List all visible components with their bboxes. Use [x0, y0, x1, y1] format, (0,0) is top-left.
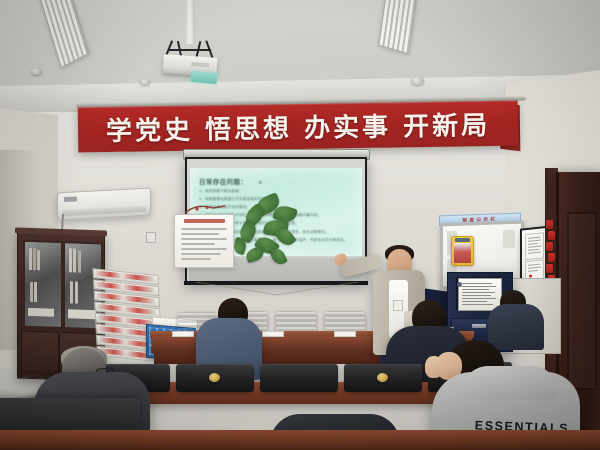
door-panel [567, 212, 597, 390]
slide-title: 日常存在问题： [199, 176, 355, 186]
audience-hand [425, 356, 443, 378]
audience-member [488, 304, 544, 350]
ceiling-light-icon [378, 0, 417, 54]
ceiling-light-icon [38, 0, 89, 68]
poster-logo-icon [183, 203, 227, 215]
slide-bullet: 1、相关制度不够全面准； [199, 189, 355, 194]
potted-plant [226, 196, 300, 272]
slogan-banner: 学党史 悟思想 办实事 开新局 [78, 101, 519, 153]
poster-image [454, 243, 471, 263]
bookcase-glass-door[interactable] [23, 240, 63, 329]
bench-seat[interactable] [260, 364, 338, 392]
seat-emblem [209, 373, 220, 382]
projector-mount-pole [186, 0, 195, 44]
paper-sheet [172, 331, 194, 337]
smoke-detector-icon [31, 68, 42, 75]
bookcase-door-split [58, 334, 60, 374]
banner-text: 学党史 悟思想 办实事 开新局 [106, 105, 491, 148]
photo-scene: 学党史 悟思想 办实事 开新局 日常存在问题： 1、相关制度不够全面准； 2、档… [0, 0, 600, 450]
paper-sheet [262, 331, 284, 337]
podium-control-knob[interactable] [457, 282, 462, 287]
air-conditioner-unit [57, 188, 151, 221]
hoodie-hood [462, 366, 558, 400]
safety-poster [451, 236, 474, 266]
wall-outlet [146, 232, 156, 243]
ac-vent [62, 206, 146, 216]
bench-seat[interactable] [176, 364, 254, 392]
slide-title-marker [259, 181, 262, 184]
ac-badge [64, 196, 77, 202]
wall-poster [174, 214, 234, 268]
presenter-badge [393, 300, 403, 311]
projector-lens [191, 71, 218, 84]
seat-emblem [377, 373, 388, 382]
foreground-bench [0, 430, 600, 450]
poster-emblem-svg [183, 204, 227, 216]
drawer-handle[interactable] [472, 324, 486, 328]
bench-seat[interactable] [344, 364, 422, 392]
poster-heading-bar [184, 219, 225, 223]
smoke-detector-icon [411, 77, 424, 85]
slide-title-text: 日常存在问题： [199, 178, 247, 186]
paper-sheet [334, 331, 356, 337]
smoke-detector-icon [140, 79, 150, 85]
poster-top-bar [455, 238, 470, 242]
